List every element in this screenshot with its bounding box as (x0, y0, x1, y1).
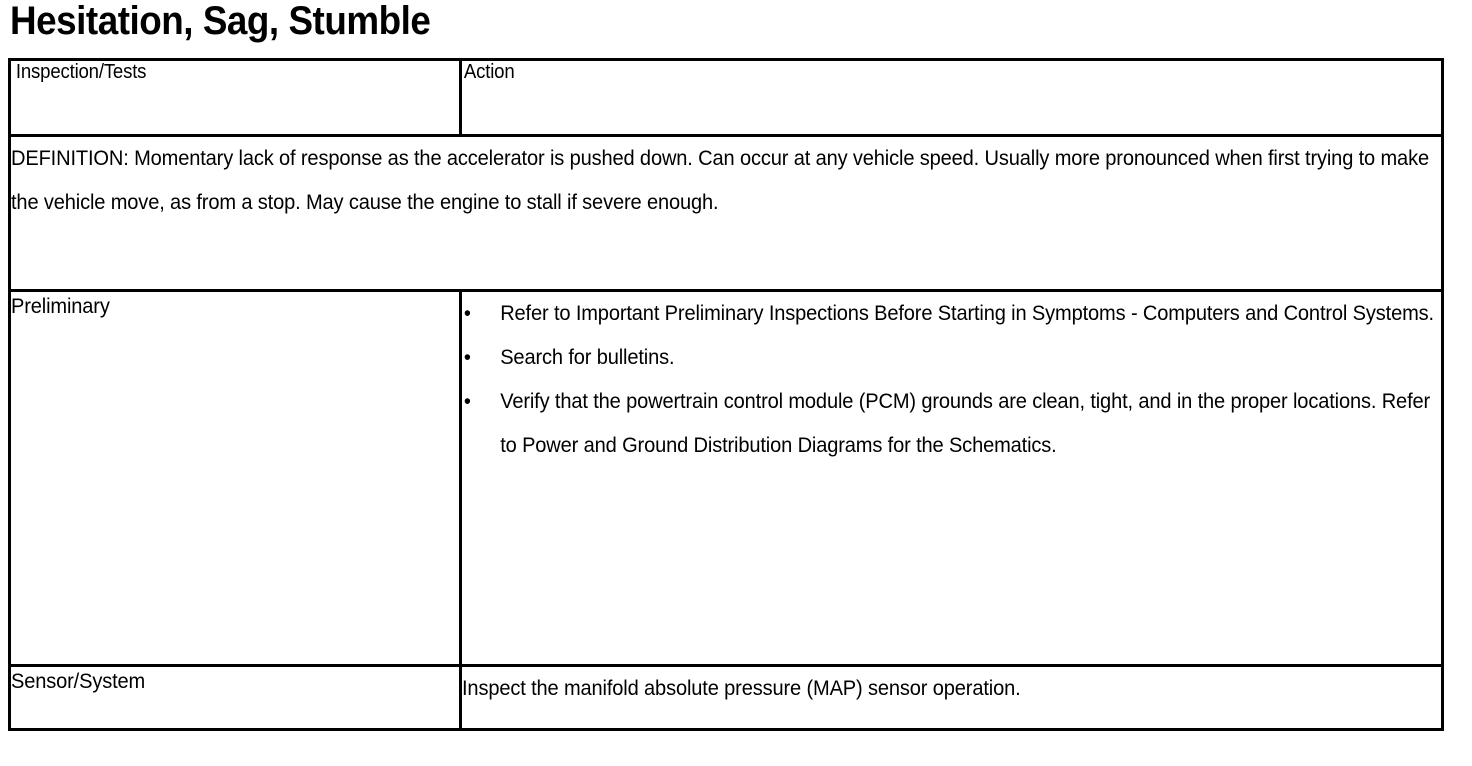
table-row-definition: DEFINITION: Momentary lack of response a… (10, 136, 1443, 291)
definition-text: DEFINITION: Momentary lack of response a… (11, 137, 1441, 225)
bullet-icon: • (464, 292, 481, 336)
table-header-row: Inspection/Tests Action (10, 60, 1443, 136)
list-item: • Refer to Important Preliminary Inspect… (462, 292, 1441, 336)
list-item: • Verify that the powertrain control mod… (462, 380, 1441, 468)
table-row-sensor-system: Sensor/System Inspect the manifold absol… (10, 666, 1443, 730)
row-label-preliminary: Preliminary (10, 291, 461, 666)
list-item: • Search for bulletins. (462, 336, 1441, 380)
row-action-preliminary: • Refer to Important Preliminary Inspect… (461, 291, 1443, 666)
row-action-sensor-system-text: Inspect the manifold absolute pressure (… (462, 667, 1441, 711)
column-header-action: Action (461, 60, 1443, 136)
row-label-preliminary-text: Preliminary (11, 292, 110, 322)
bullet-icon: • (464, 336, 481, 380)
table-row-preliminary: Preliminary • Refer to Important Prelimi… (10, 291, 1443, 666)
column-header-inspection-tests-label: Inspection/Tests (16, 61, 146, 84)
list-item-text: Verify that the powertrain control modul… (462, 380, 1441, 468)
bullet-icon: • (464, 380, 481, 424)
row-label-sensor-system-text: Sensor/System (11, 667, 145, 697)
page-title: Hesitation, Sag, Stumble (10, 0, 430, 46)
symptom-diagnostic-table: Inspection/Tests Action DEFINITION: Mome… (8, 58, 1444, 731)
column-header-action-label: Action (464, 61, 515, 84)
column-header-inspection-tests: Inspection/Tests (10, 60, 461, 136)
list-item-text: Refer to Important Preliminary Inspectio… (462, 292, 1441, 336)
row-action-sensor-system: Inspect the manifold absolute pressure (… (461, 666, 1443, 730)
document-page: Hesitation, Sag, Stumble Inspection/Test… (0, 0, 1472, 766)
row-label-sensor-system: Sensor/System (10, 666, 461, 730)
definition-cell: DEFINITION: Momentary lack of response a… (10, 136, 1443, 291)
list-item-text: Search for bulletins. (462, 336, 1441, 380)
preliminary-bullet-list: • Refer to Important Preliminary Inspect… (462, 292, 1441, 468)
